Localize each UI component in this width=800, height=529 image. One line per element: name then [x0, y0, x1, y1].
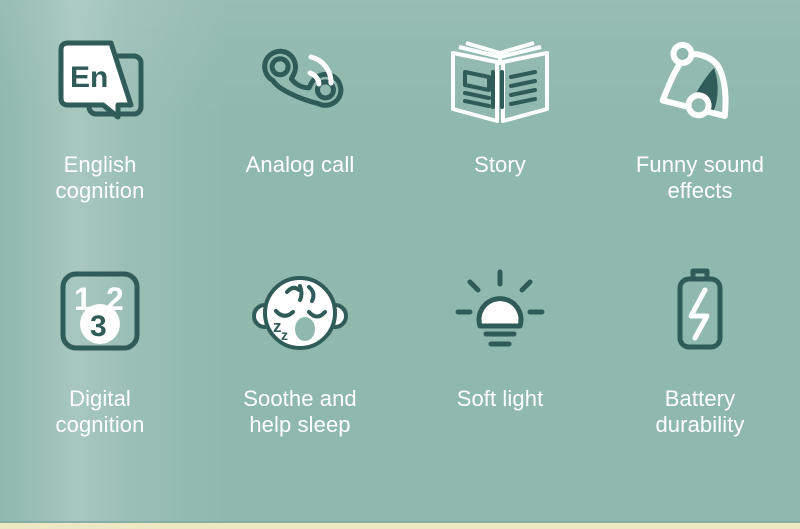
battery-bolt-icon: [655, 260, 745, 364]
svg-text:3: 3: [90, 310, 107, 343]
numbers-123-icon: 1 2 3: [50, 260, 150, 364]
feature-grid: En English cognition A: [0, 0, 800, 505]
feature-label: Funny sound effects: [636, 152, 764, 204]
light-bulb-icon: [448, 260, 552, 364]
feature-item-soft-light[interactable]: Soft light: [400, 260, 600, 472]
svg-text:z: z: [281, 327, 288, 343]
feature-item-battery-durability[interactable]: Battery durability: [600, 260, 800, 472]
feature-label: Story: [474, 152, 526, 178]
bell-icon: [648, 28, 752, 138]
open-book-icon: [445, 28, 555, 138]
feature-label: Soothe and help sleep: [243, 386, 357, 438]
feature-label: Analog call: [246, 152, 355, 178]
feature-item-analog-call[interactable]: Analog call: [200, 28, 400, 260]
feature-item-story[interactable]: Story: [400, 28, 600, 260]
feature-grid-panel: En English cognition A: [0, 0, 800, 529]
svg-text:En: En: [70, 61, 108, 94]
bottom-strip: [0, 523, 800, 529]
feature-label: Battery durability: [655, 386, 744, 438]
feature-label: Soft light: [457, 386, 544, 412]
feature-label: English cognition: [56, 152, 145, 204]
feature-item-digital-cognition[interactable]: 1 2 3 Digital cognition: [0, 260, 200, 472]
feature-item-funny-sound-effects[interactable]: Funny sound effects: [600, 28, 800, 260]
phone-handset-icon: [248, 28, 352, 138]
en-document-icon: En: [48, 28, 152, 138]
feature-item-english-cognition[interactable]: En English cognition: [0, 28, 200, 260]
feature-item-soothe-and-help-sleep[interactable]: z z Soothe and help sleep: [200, 260, 400, 472]
feature-label: Digital cognition: [56, 386, 145, 438]
sleeping-baby-icon: z z: [245, 260, 355, 364]
